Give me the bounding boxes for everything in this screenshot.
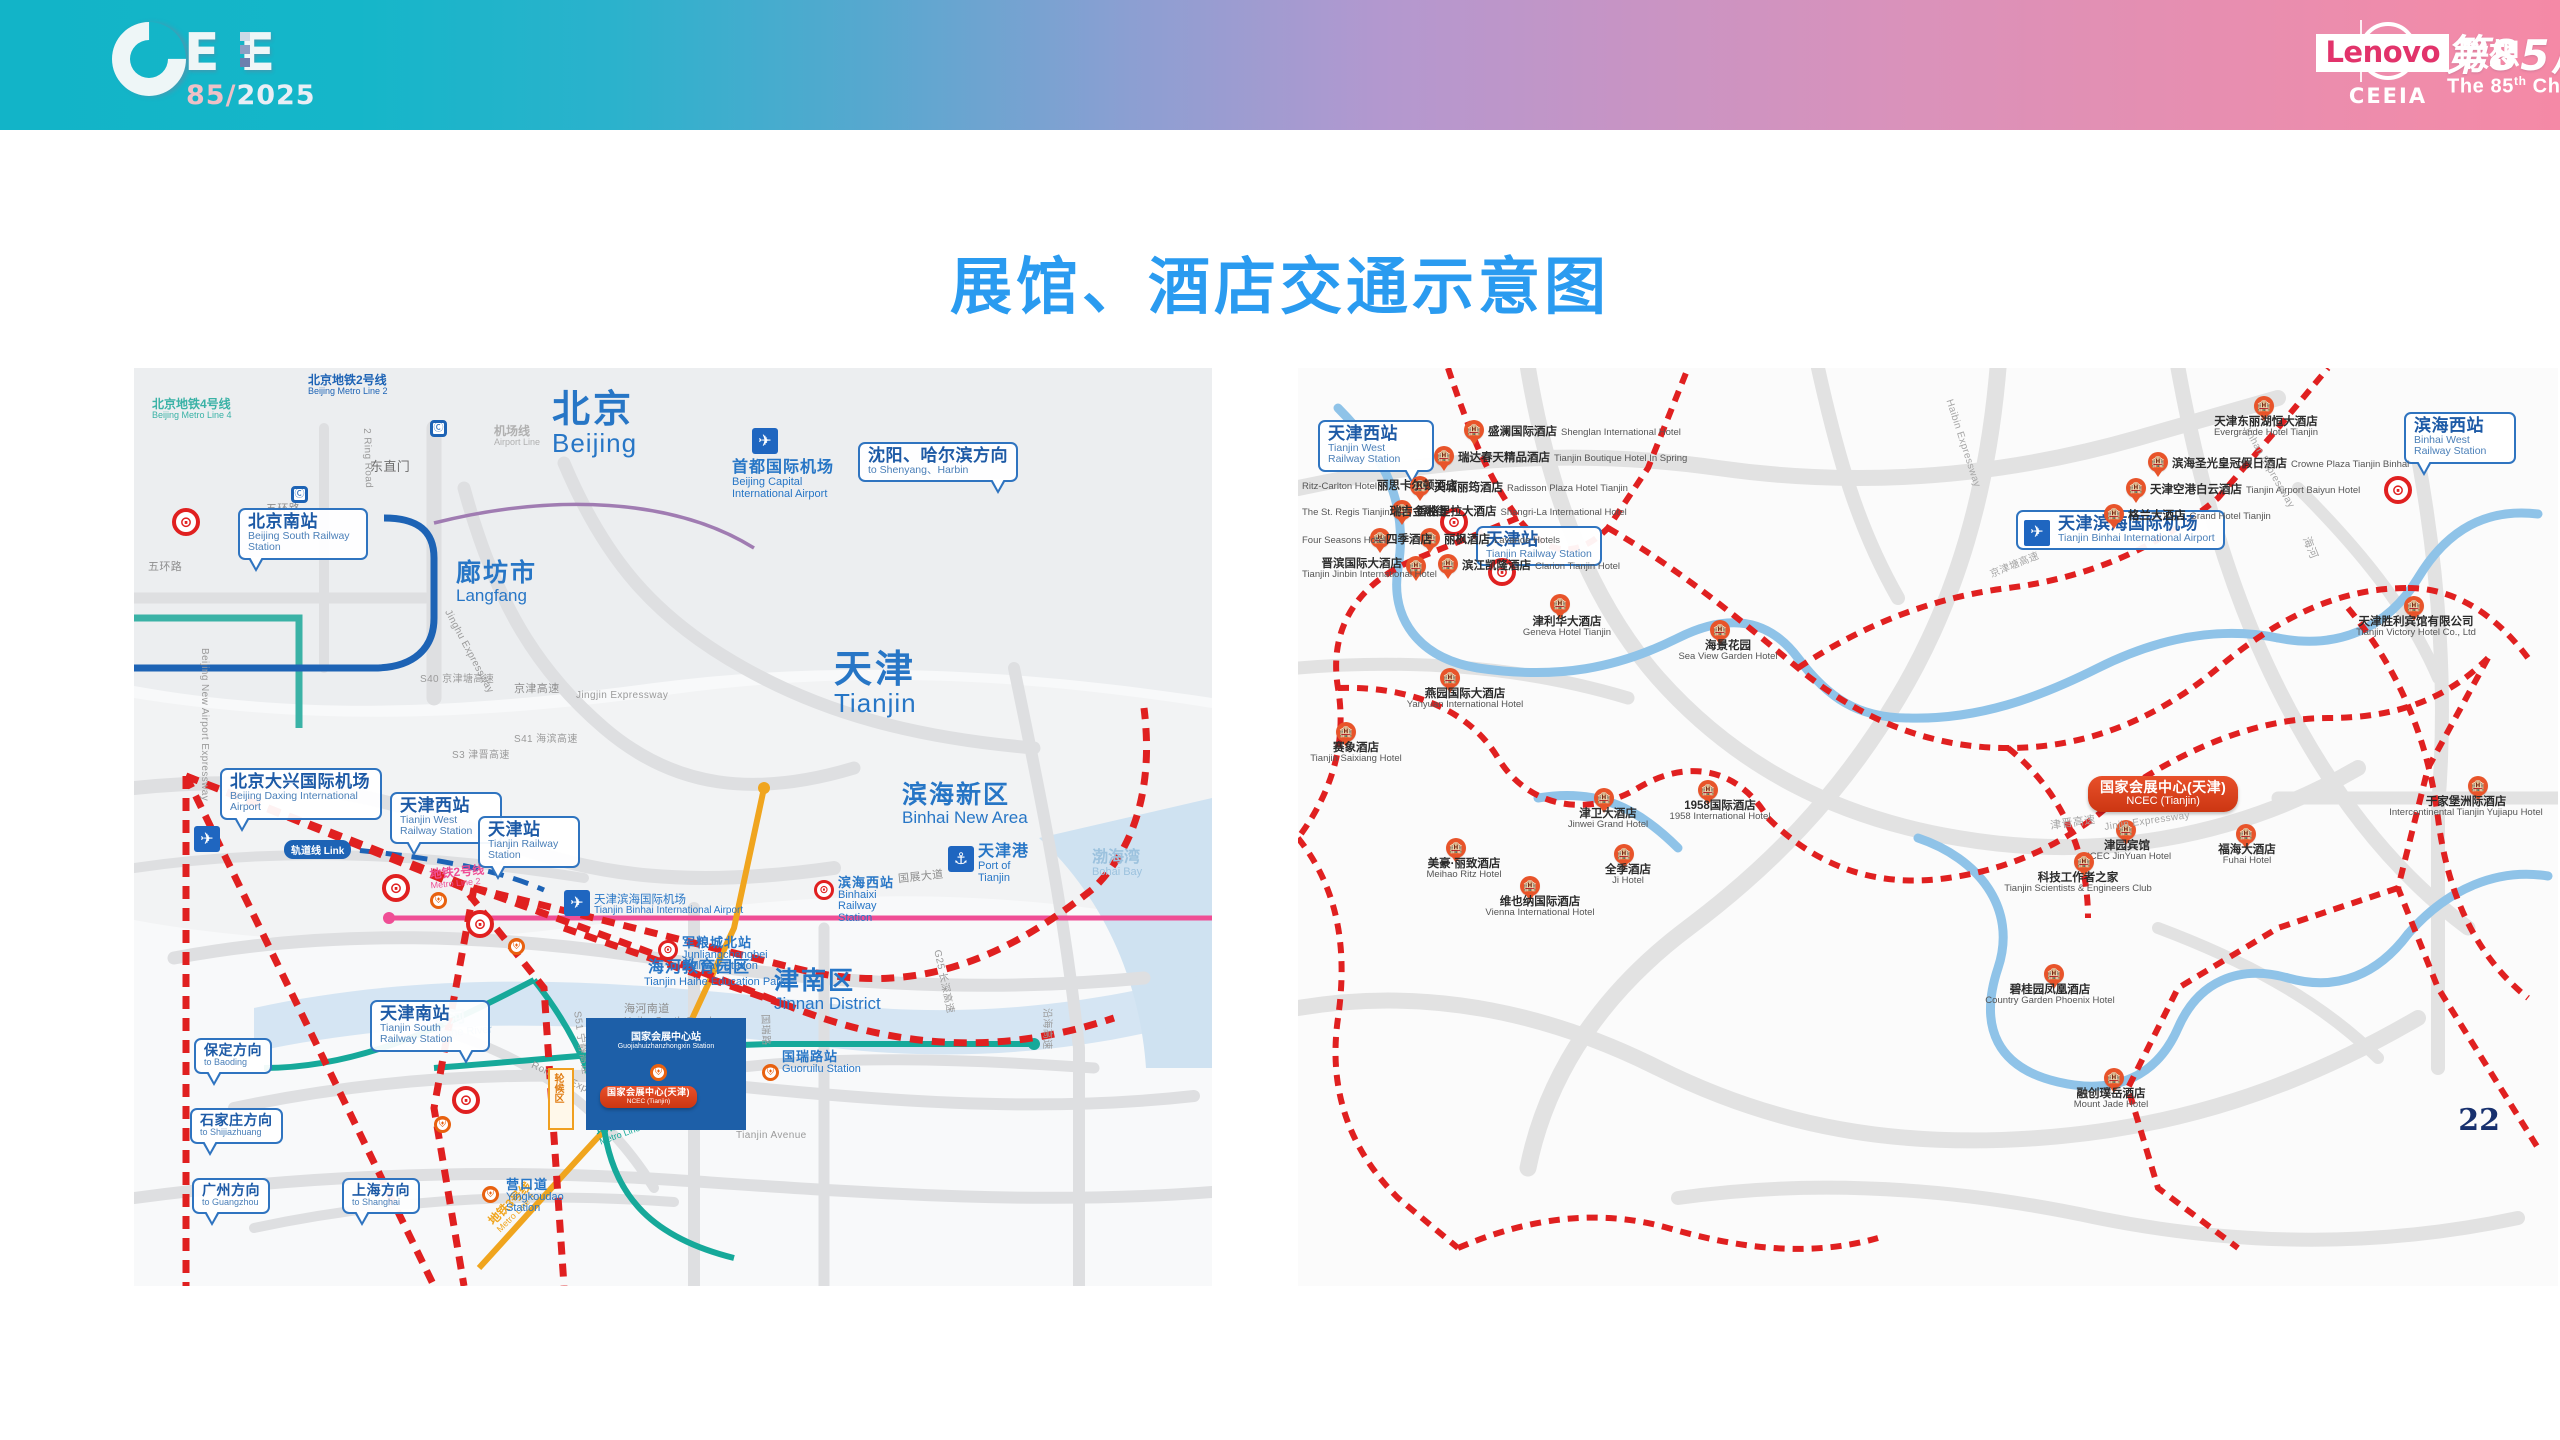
hotel-label-1: 瑞达春天精品酒店Tianjin Boutique Hotel In Spring (1458, 448, 1687, 465)
hotel-pin-14[interactable]: 🏨 (1594, 788, 1614, 808)
hotel-pin-24[interactable]: 🏨 (2148, 452, 2168, 472)
hotel-label-13: 赛象酒店Tianjin Saixiang Hotel (1298, 742, 1414, 765)
hotel-pin-13[interactable]: 🏨 (1336, 722, 1356, 742)
metro-station-dongzhimen-label: 东直门 (370, 456, 410, 475)
regional-transport-map[interactable]: 北京 Beijing 天津 Tianjin 廊坊市 Langfang 滨海新区 … (134, 368, 1212, 1286)
lenovo-sponsor-logo: Lenovo联想 (2316, 30, 2520, 75)
hotel-label-9: 晋滨国际大酒店Tianjin Jinbin International Hote… (1298, 558, 1402, 581)
cee-logo: E E 85/2025 (112, 18, 312, 114)
airplane-icon-capital-airport: ✈ (752, 428, 778, 454)
hotel-pin-18[interactable]: 🏨 (1520, 876, 1540, 896)
callout-beijing-daxing-airport[interactable]: 北京大兴国际机场 Beijing Daxing International Ai… (220, 768, 382, 820)
rail-station-icon-junliangchengbei[interactable]: ⊙ (658, 940, 678, 960)
poi-tianjin-binhai-airport: 天津滨海国际机场 Tianjin Binhai International Ai… (594, 894, 743, 917)
road-label-yanhai-expressway: 沿海高速 (1041, 1008, 1056, 1050)
hotel-label-16: 美豪·丽致酒店Meihao Ritz Hotel (1394, 858, 1534, 881)
hotel-pin-10[interactable]: 🏨 (1550, 594, 1570, 614)
rail-station-icon-tianjin-west[interactable]: ⊙ (382, 874, 410, 902)
callout-tianjin-south-railway-station[interactable]: 天津南站 Tianjin South Railway Station (370, 1000, 490, 1052)
hotel-pin-20[interactable]: 🏨 (2074, 852, 2094, 872)
callout-binhai-west-railway-station[interactable]: 滨海西站 Binhai West Railway Station (2404, 412, 2516, 464)
poi-binhaixi-station: 滨海西站 Binhaixi Railway Station (838, 876, 900, 925)
hotel-label-18: 维也纳国际酒店Vienna International Hotel (1458, 896, 1622, 919)
lenovo-badge: Lenovo (2316, 34, 2449, 72)
poi-guorui-road-station: 国瑞路站 Guoruilu Station (782, 1050, 861, 1075)
ceeia-wordmark: CEEIA (2345, 84, 2431, 108)
hotel-label-8: Four Seasons Hotel四季酒店 (1298, 530, 1366, 547)
callout-beijing-south-railway-station[interactable]: 北京南站 Beijing South Railway Station (238, 508, 368, 560)
hotel-pin-22[interactable]: 🏨 (2104, 1068, 2124, 1088)
road-label-s40: S40 京津塘高速 (420, 670, 494, 685)
metro-station-icon-yingkoudao[interactable]: ⛨ (482, 1186, 499, 1203)
callout-tianjin-railway-station[interactable]: 天津站 Tianjin Railway Station (478, 816, 580, 868)
metro-label-airport-link: 轨道线 Link (284, 840, 351, 859)
hotel-pin-1[interactable]: 🏨 (1434, 446, 1454, 466)
metro-station-dongzhimen-icon[interactable]: Ⓒ (430, 420, 447, 437)
hotel-label-27: 天津胜利宾馆有限公司Tianjin Victory Hotel Co., Ltd (2318, 616, 2514, 639)
hotel-pin-28[interactable]: 🏨 (2236, 824, 2256, 844)
hotel-pin-15[interactable]: 🏨 (1698, 780, 1718, 800)
tianjin-hotels-map[interactable]: 天津西站 Tianjin West Railway Station ⊙ 天津站 … (1298, 368, 2558, 1286)
hotel-label-24: 滨海圣光皇冠假日酒店Crowne Plaza Tianjin Binhai (2172, 454, 2409, 471)
road-label-beijing-new-airport-expressway: Beijing New Airport Expressway (199, 648, 210, 801)
metro-label-beijing-line-2: 北京地铁2号线 Beijing Metro Line 2 (308, 374, 388, 396)
hotel-label-20: 科技工作者之家Tianjin Scientists & Engineers Cl… (1986, 872, 2170, 895)
lenovo-label-cn: 联想 (2458, 30, 2520, 75)
hotel-label-26: 格兰大酒店Grand Hotel Tianjin (2128, 506, 2271, 523)
road-label-wuhuanlu-2: 五环路 (148, 558, 182, 574)
hotel-pin-5[interactable]: 🏨 (1438, 554, 1458, 574)
waiting-area-box: 轮候区 (548, 1068, 574, 1130)
hotel-pin-26[interactable]: 🏨 (2104, 504, 2124, 524)
road-label-s3-jinjin: S3 津晋高速 (452, 746, 510, 761)
callout-to-shanghai[interactable]: 上海方向 to Shanghai (342, 1178, 420, 1214)
callout-tianjin-west-railway-station-right[interactable]: 天津西站 Tianjin West Railway Station (1318, 420, 1434, 472)
metro-station-icon-2[interactable]: Ⓒ (291, 486, 308, 503)
venue-station-label: 国家会展中心站 Guojiahuizhanzhongxin Station (586, 1032, 746, 1051)
hotel-label-21: 碧桂园凤凰酒店Country Garden Phoenix Hotel (1970, 984, 2130, 1007)
hotel-pin-27[interactable]: 🏨 (2404, 596, 2424, 616)
rail-station-icon-tianjin-railway[interactable]: ⊙ (466, 910, 494, 938)
hotel-pin-21[interactable]: 🏨 (2044, 964, 2064, 984)
hotel-label-12: 燕园国际大酒店Yanyuan International Hotel (1390, 688, 1540, 711)
poi-port-of-tianjin: 天津港 Port of Tianjin (978, 844, 1029, 884)
airplane-icon-binhai-airport: ✈ (564, 890, 590, 916)
anchor-icon-port-of-tianjin: ⚓ (948, 846, 974, 872)
road-label-haihe-south-road-cn: 海河南道 (624, 1000, 670, 1016)
rail-station-icon-binhai-west[interactable]: ⊙ (2384, 476, 2412, 504)
callout-to-baoding[interactable]: 保定方向 to Baoding (194, 1038, 272, 1074)
slide-header: E E 85/2025 CEEIA 第85届中国教育装备展示会 The 85th… (0, 0, 2560, 130)
poi-junliangchengbei-station: 军粮城北站 Junliangchengbei Railway Station (682, 936, 768, 973)
geo-label-tianjin: 天津 Tianjin (834, 650, 917, 718)
callout-to-guangzhou[interactable]: 广州方向 to Guangzhou (192, 1178, 270, 1214)
callout-to-shijiazhuang[interactable]: 石家庄方向 to Shijiazhuang (190, 1108, 283, 1144)
road-label-tianjin-avenue: Tianjin Avenue (736, 1130, 807, 1141)
hotel-label-3: 香格里拉大酒店Shangri-La International Hotel (1416, 502, 1627, 519)
geo-label-langfang: 廊坊市 Langfang (456, 560, 537, 605)
geo-label-binhai-new-area: 滨海新区 Binhai New Area (902, 782, 1028, 827)
hotel-pin-17[interactable]: 🏨 (1614, 844, 1634, 864)
cee-logo-letters: E E (184, 26, 276, 80)
page-title: 展馆、酒店交通示意图 (0, 236, 2560, 326)
venue-pill-ncec-tianjin[interactable]: 国家会展中心(天津) NCEC (Tianjin) (600, 1086, 697, 1108)
hotel-label-6: Ritz-Carlton Hotel丽思卡尔顿酒店 (1298, 476, 1402, 493)
cee-logo-year-left: 85/ (186, 80, 236, 111)
metro-station-icon-c[interactable]: ⛨ (434, 1116, 451, 1133)
cee-logo-year-right: 2025 (236, 80, 315, 111)
hotel-label-25: 天津空港白云酒店Tianjin Airport Baiyun Hotel (2150, 480, 2360, 497)
hotel-label-5: 滨江凯隆酒店Clarion Tianjin Hotel (1462, 556, 1620, 573)
hotel-label-10: 津利华大酒店Geneva Hotel Tianjin (1512, 616, 1622, 639)
rail-station-icon-binhaixi[interactable]: ⊙ (814, 880, 834, 900)
hotel-label-11: 海景花园Sea View Garden Hotel (1670, 640, 1786, 663)
poi-yingkoudao-station: 营口道 Yingkoudao Station (506, 1178, 560, 1215)
hotel-pin-16[interactable]: 🏨 (1446, 838, 1466, 858)
exhibition-title-en: The 85th China Educational Equipment Exh… (2447, 74, 2560, 99)
hotel-label-22: 融创璞岳酒店Mount Jade Hotel (2046, 1088, 2176, 1111)
hotel-label-0: 盛澜国际酒店Shenglan International Hotel (1488, 422, 1681, 439)
metro-station-icon-ncec[interactable]: ⛨ (650, 1064, 667, 1081)
hotel-label-15: 1958国际酒店1958 International Hotel (1648, 800, 1792, 823)
cee-logo-year: 85/2025 (186, 80, 316, 111)
metro-station-icon-guorui[interactable]: ⛨ (762, 1064, 779, 1081)
airplane-icon-daxing-airport: ✈ (194, 826, 220, 852)
cee-logo-dots (240, 32, 250, 71)
geo-label-jinnan-district: 津南区 Jinnan District (774, 968, 881, 1013)
hotel-pin-25[interactable]: 🏨 (2126, 478, 2146, 498)
rail-station-icon-beijing-south[interactable]: ⊙ (172, 508, 200, 536)
rail-station-icon-tianjin-south[interactable]: ⊙ (452, 1086, 480, 1114)
hotel-label-17: 全季酒店Ji Hotel (1570, 864, 1686, 887)
venue-pill-ncec-tianjin-right[interactable]: 国家会展中心(天津) NCEC (Tianjin) (2088, 776, 2238, 812)
road-label-jingjin-expressway-cn: 京津高速 (514, 680, 560, 696)
callout-to-shenyang-harbin[interactable]: 沈阳、哈尔滨方向 to Shenyang、Harbin (858, 442, 1018, 482)
metro-station-icon-a[interactable]: ⛨ (430, 892, 447, 909)
hotel-label-28: 福海大酒店Fuhai Hotel (2186, 844, 2308, 867)
road-label-guorui-road: 国瑞路 (759, 1014, 775, 1046)
metro-label-airport-line: 机场线 Airport Line (494, 425, 540, 447)
road-label-s41: S41 海滨高速 (514, 730, 578, 745)
hotel-label-7: The St. Regis Tianjin瑞吉金融街 (1298, 502, 1402, 519)
hotel-pin-12[interactable]: 🏨 (1440, 668, 1460, 688)
airplane-icon-binhai-right: ✈ (2024, 520, 2050, 546)
hotel-pin-11[interactable]: 🏨 (1710, 620, 1730, 640)
slide-page-number: 22 (2458, 1103, 2500, 1138)
hotel-pin-0[interactable]: 🏨 (1464, 420, 1484, 440)
hotel-label-23: 天津东丽湖恒大酒店Evergrande Hotel Tianjin (2178, 416, 2354, 439)
road-label-jingjin-expressway-en: Jingjin Expressway (576, 690, 668, 701)
hotel-pin-23[interactable]: 🏨 (2254, 396, 2274, 416)
geo-label-beijing: 北京 Beijing (552, 390, 637, 458)
poi-beijing-capital-airport: 首都国际机场 Beijing Capital International Air… (732, 460, 862, 500)
geo-label-bohai-bay: 渤海湾 Bohai Bay (1092, 850, 1142, 879)
hotel-label-29: 于家堡洲际酒店Intercontinental Tianjin Yujiapu … (2374, 796, 2558, 819)
hotel-label-4: 丽枫酒店Lavande Hotels (1444, 530, 1560, 547)
metro-station-icon-b[interactable]: ⛨ (508, 938, 525, 955)
metro-label-beijing-line-4: 北京地铁4号线 Beijing Metro Line 4 (152, 398, 232, 420)
hotel-pin-29[interactable]: 🏨 (2468, 776, 2488, 796)
hotel-label-2: 天城丽筠酒店Radisson Plaza Hotel Tianjin (1434, 478, 1628, 495)
